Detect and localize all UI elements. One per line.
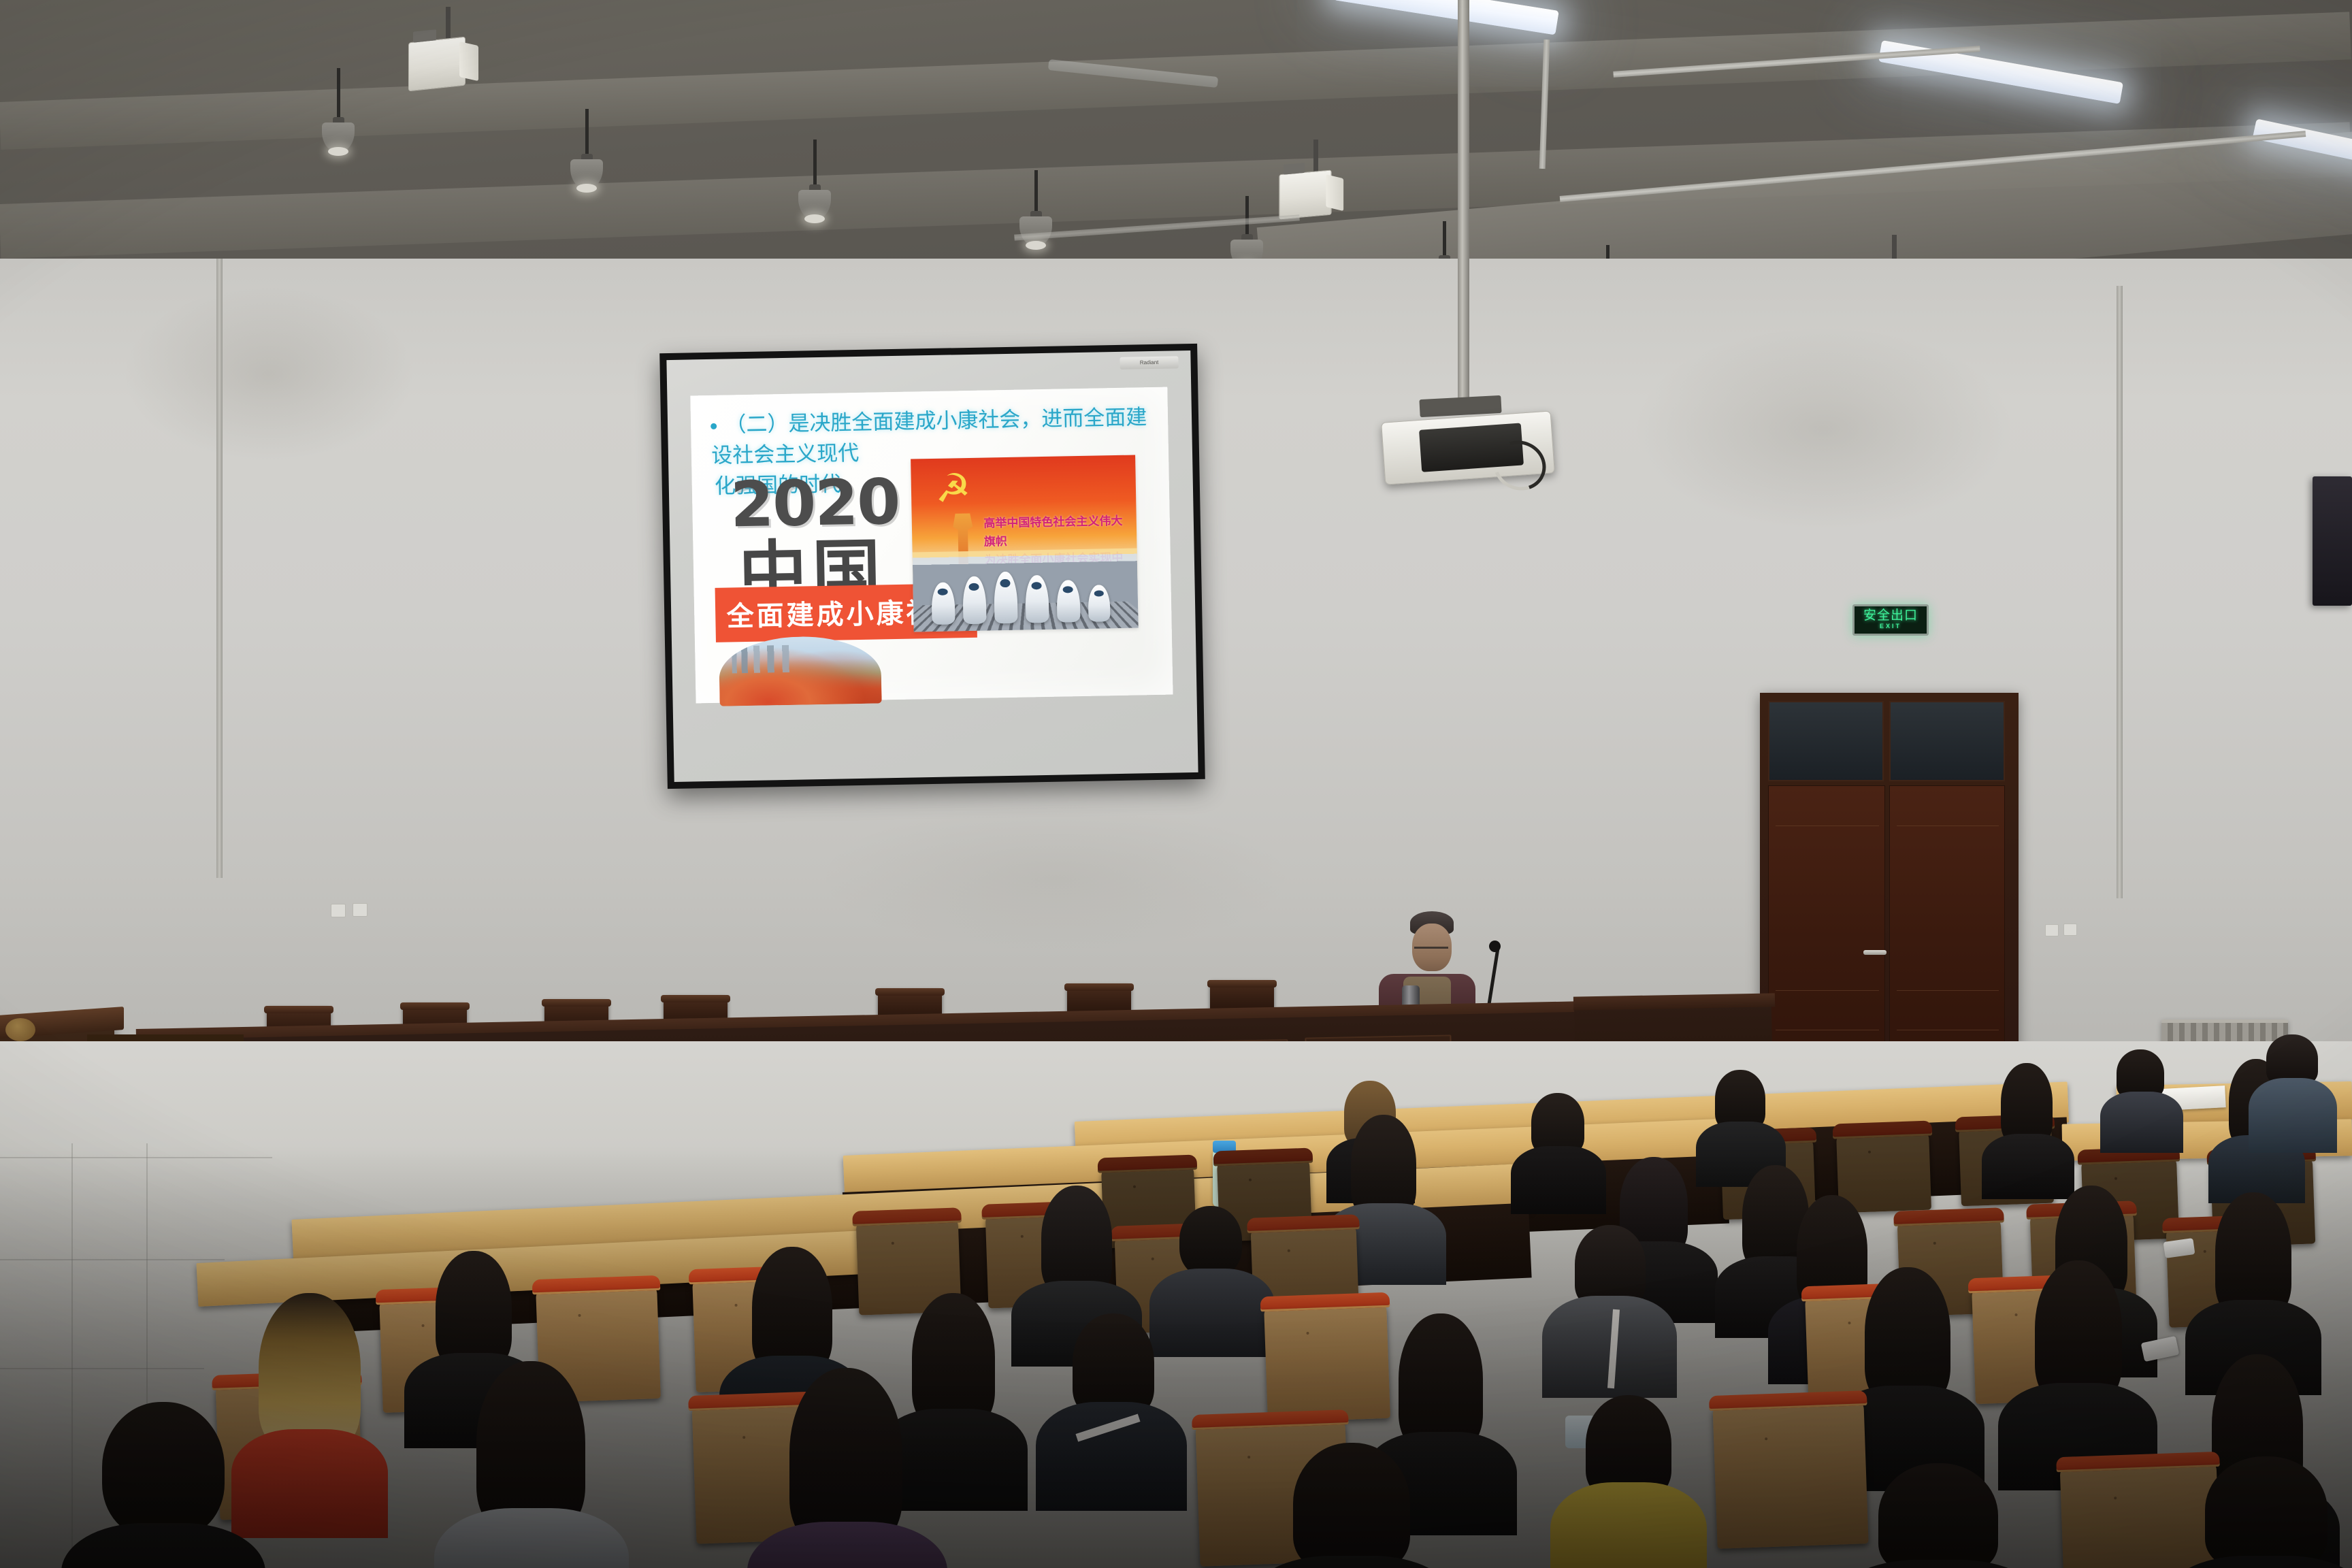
projection-screen-surface: Radiant （二）是决胜全面建成小康社会，进而全面建设社会主义现代 化强国的…	[666, 350, 1198, 782]
lecture-hall-scene: 安全出口 EXIT Radiant （二）是	[0, 0, 2352, 1568]
person-shoulders	[1550, 1482, 1707, 1568]
person-hair	[2205, 1456, 2327, 1568]
person-shoulders	[1982, 1134, 2074, 1199]
train-graphic	[1088, 585, 1111, 623]
person-hair	[1878, 1463, 1998, 1568]
train-graphic	[994, 572, 1017, 624]
floor-tile-line	[0, 1368, 204, 1369]
person-hair	[1575, 1225, 1646, 1307]
presenter-glasses	[1414, 947, 1448, 954]
slide-rail-photo	[913, 549, 1138, 632]
stage-spotlight	[408, 37, 465, 92]
person-hair	[436, 1251, 512, 1368]
person-hair	[2215, 1192, 2291, 1316]
wall-outlet	[2045, 924, 2059, 936]
stage-spotlight	[1279, 169, 1331, 219]
person-hair	[1041, 1186, 1112, 1294]
slide-city-photo	[719, 636, 882, 706]
auditorium-seat[interactable]	[1836, 1130, 1931, 1213]
presentation-slide: （二）是决胜全面建成小康社会，进而全面建设社会主义现代 化强国的时代 2020 …	[690, 387, 1173, 703]
hammer-sickle-icon: ☭	[929, 467, 977, 511]
person-hair	[1531, 1093, 1584, 1154]
person-hair	[1715, 1070, 1765, 1130]
door-panel-line	[1897, 1030, 1999, 1030]
auditorium-seat[interactable]	[2060, 1460, 2221, 1568]
train-graphic	[931, 583, 955, 625]
train-graphic	[1056, 580, 1080, 623]
pendant-lamp-wire	[1034, 170, 1038, 215]
pendant-lamp-wire	[337, 68, 340, 121]
pendant-lamp-wire	[585, 109, 589, 158]
floor-tile-line	[0, 1157, 272, 1158]
person-head	[1179, 1206, 1242, 1277]
person-shoulders	[2100, 1092, 2183, 1153]
door-panel-line	[1897, 990, 1999, 991]
bullet-dot-icon	[710, 423, 717, 429]
train-graphic	[1025, 575, 1049, 623]
person-hair	[1293, 1443, 1410, 1568]
projection-screen: Radiant （二）是决胜全面建成小康社会，进而全面建设社会主义现代 化强国的…	[659, 344, 1205, 789]
door-transom-window	[1768, 701, 1884, 781]
person-shoulders	[1036, 1402, 1187, 1511]
person-shoulders	[2249, 1078, 2337, 1153]
wall-outlet	[331, 904, 346, 917]
pendant-lamp-wire	[1245, 196, 1249, 238]
floor-tile-line	[71, 1143, 73, 1568]
floor-tile-line	[0, 1259, 225, 1260]
person-hair	[259, 1293, 361, 1450]
auditorium-seat[interactable]	[1712, 1399, 1868, 1549]
person-shoulders	[1511, 1146, 1606, 1214]
door-panel-line	[1897, 826, 1999, 826]
door-panel-line	[1776, 1030, 1879, 1030]
wall-outlet	[353, 903, 367, 917]
door-panel-line	[1776, 826, 1879, 826]
person-shoulders	[231, 1429, 388, 1538]
wall-conduit-pipe	[2117, 286, 2123, 898]
exit-sign-label-en: EXIT	[1880, 622, 1901, 632]
wall-mounted-loudspeaker	[2313, 476, 2352, 606]
exit-sign: 安全出口 EXIT	[1852, 604, 1929, 636]
person-hair	[2266, 1034, 2318, 1085]
pendant-lamp-wire	[813, 140, 817, 189]
screen-roller-brand: Radiant	[1120, 356, 1178, 370]
person-hair	[1399, 1313, 1483, 1450]
person-hair	[789, 1368, 902, 1545]
poster-line1: 高举中国特色社会主义伟大旗帜	[983, 512, 1123, 552]
door-transom-window	[1889, 701, 2005, 781]
person-hair	[1865, 1267, 1950, 1403]
person-hair	[1073, 1313, 1154, 1416]
exit-sign-label-cn: 安全出口	[1863, 609, 1918, 622]
person-hair	[476, 1361, 585, 1531]
lectern-seal-emblem	[5, 1018, 35, 1041]
door-panel-line	[1776, 990, 1879, 991]
spotlight-stem	[1313, 140, 1318, 174]
slide-party-poster: ☭ 高举中国特色社会主义伟大旗帜 为决胜全面小康社会实现中国梦而奋斗	[911, 455, 1138, 632]
wall-conduit-pipe	[216, 259, 223, 878]
pendant-lamp-wire	[1443, 221, 1446, 259]
person-shoulders	[1149, 1269, 1275, 1357]
projector-mount-pole	[1458, 0, 1469, 402]
door-handle[interactable]	[1863, 950, 1886, 955]
wall-outlet	[2063, 924, 2077, 936]
person-hair	[912, 1293, 995, 1426]
train-graphic	[962, 576, 986, 625]
auditorium-seat[interactable]	[1264, 1301, 1390, 1422]
microphone-head	[1489, 941, 1501, 952]
person-head	[102, 1402, 225, 1538]
person-hair	[2035, 1260, 2122, 1402]
person-hair	[1351, 1115, 1416, 1217]
person-hair	[752, 1247, 832, 1373]
person-hair	[2001, 1063, 2053, 1145]
